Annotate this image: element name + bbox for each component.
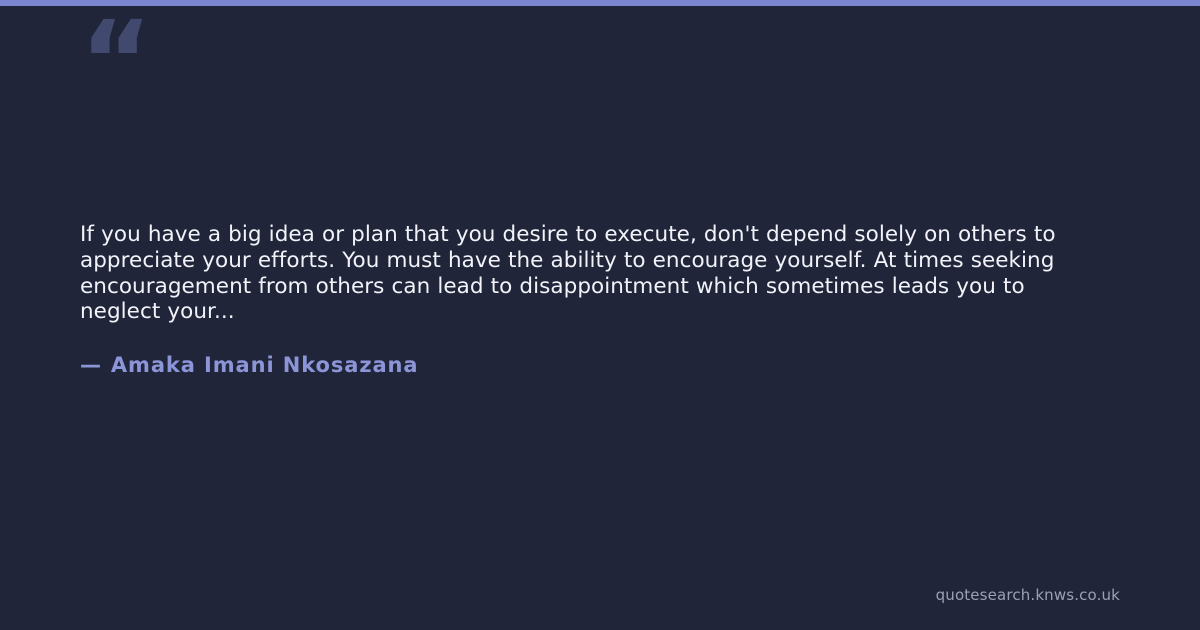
quote-attribution: — Amaka Imani Nkosazana	[80, 353, 418, 377]
top-accent-bar	[0, 0, 1200, 6]
quote-card: “ If you have a big idea or plan that yo…	[0, 0, 1200, 630]
quote-body: If you have a big idea or plan that you …	[80, 222, 1110, 325]
source-website-label: quotesearch.knws.co.uk	[936, 586, 1120, 604]
opening-quotation-mark-icon: “	[80, 6, 150, 116]
attribution-dash: —	[80, 353, 102, 377]
quote-text: If you have a big idea or plan that you …	[80, 222, 1110, 325]
attribution-author-name: Amaka Imani Nkosazana	[111, 353, 419, 377]
